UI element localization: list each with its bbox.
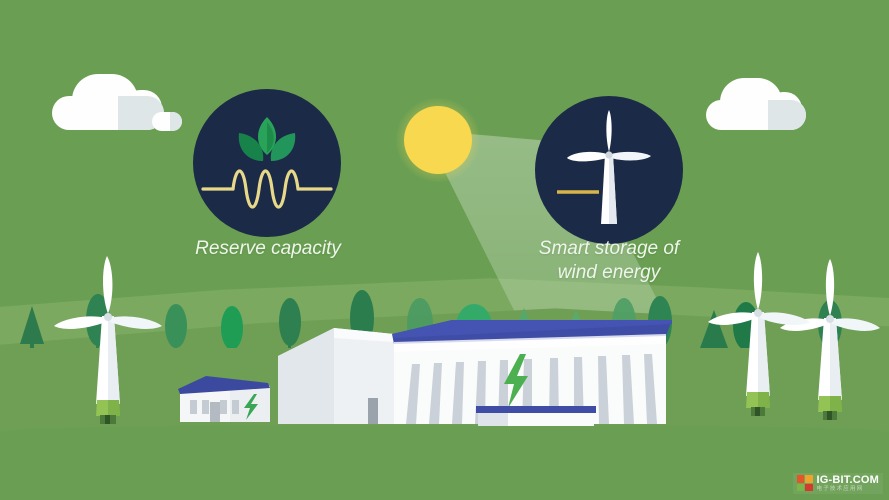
small-house[interactable] [176,372,274,426]
leaf-icon [239,117,296,161]
wind-turbine-right-front[interactable] [704,248,816,420]
watermark-text: IG-BIT.COM 电子技术应用网 [817,475,880,493]
badge-reserve-capacity-label: Reserve capacity [170,237,366,261]
cloud-small-left [152,112,182,132]
battery-storage-facility[interactable] [274,312,674,436]
watermark-logo-icon [797,475,813,491]
cloud-shadow [768,100,806,130]
badge-smart-wind-storage[interactable] [535,96,683,244]
watermark-sub-text: 电子技术应用网 [817,487,880,493]
badge-reserve-capacity[interactable] [193,89,341,237]
watermark-main-text: IG-BIT.COM [817,475,880,486]
cloud-shadow [170,112,182,131]
ground-foreground [0,432,889,500]
wind-turbine-icon [567,110,651,224]
illustration-canvas: Reserve capacity Smart storage of wind e… [0,0,889,500]
cloud-large-right [706,78,810,130]
wind-turbine-left[interactable] [48,252,168,430]
site-watermark: IG-BIT.COM 电子技术应用网 [793,473,884,495]
waveform-icon [203,171,331,207]
sun-icon [404,106,472,174]
